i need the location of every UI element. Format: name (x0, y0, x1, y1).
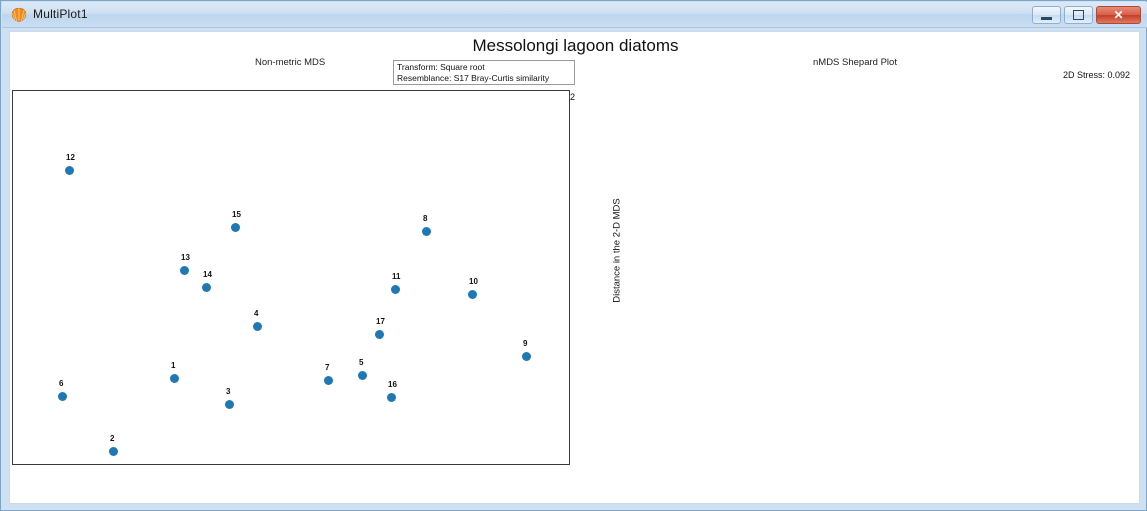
window-title: MultiPlot1 (33, 7, 88, 21)
mds-point (231, 223, 240, 232)
mds-point-label: 3 (226, 387, 230, 396)
y-axis-title: Distance in the 2-D MDS (612, 131, 623, 371)
mds-point (180, 266, 189, 275)
mds-point (375, 330, 384, 339)
minimize-icon (1033, 7, 1060, 23)
mds-point (253, 322, 262, 331)
title-bar: MultiPlot1 ✕ (2, 2, 1147, 28)
close-button[interactable]: ✕ (1096, 6, 1141, 24)
mds-point-label: 10 (469, 277, 478, 286)
mds-point-label: 9 (523, 339, 527, 348)
restore-icon (1065, 7, 1092, 23)
maximize-button[interactable] (1064, 6, 1093, 24)
mds-subtitle: Non-metric MDS (255, 57, 325, 68)
close-icon: ✕ (1097, 7, 1140, 23)
mds-point-label: 11 (392, 272, 400, 281)
application-window: MultiPlot1 ✕ Messolongi lagoon diatoms N… (0, 0, 1147, 511)
mds-point (324, 376, 333, 385)
mds-point-label: 14 (203, 270, 212, 279)
mds-point-label: 2 (110, 434, 114, 443)
mds-point-label: 16 (388, 380, 397, 389)
mds-point-label: 8 (423, 214, 427, 223)
mds-point (522, 352, 531, 361)
mds-point-label: 1 (171, 361, 175, 370)
page-title: Messolongi lagoon diatoms (10, 36, 1140, 56)
mds-point (109, 447, 118, 456)
mds-point-label: 4 (254, 309, 258, 318)
mds-point (225, 400, 234, 409)
mds-point-label: 15 (232, 210, 241, 219)
plot-canvas: Messolongi lagoon diatoms Non-metric MDS… (9, 31, 1140, 504)
mds-point (391, 285, 400, 294)
mds-point (202, 283, 211, 292)
transform-label: Transform: Square root (397, 62, 571, 73)
mds-point-label: 5 (359, 358, 363, 367)
minimize-button[interactable] (1032, 6, 1061, 24)
resemblance-label: Resemblance: S17 Bray-Curtis similarity (397, 73, 571, 84)
shepard-plot-area: Distance in the 2-D MDS Similarity 01234… (593, 67, 1138, 502)
mds-point (58, 392, 67, 401)
mds-point (468, 290, 477, 299)
mds-point-label: 7 (325, 363, 329, 372)
mds-point (358, 371, 367, 380)
mds-point-label: 17 (376, 317, 385, 326)
mds-point (65, 166, 74, 175)
mds-point-label: 12 (66, 153, 75, 162)
mds-info-box: Transform: Square root Resemblance: S17 … (393, 60, 575, 85)
mds-plot-area: 1215131481110417915716632 (12, 90, 570, 465)
mds-point-label: 13 (181, 253, 190, 262)
mds-point (170, 374, 179, 383)
mds-point (422, 227, 431, 236)
shell-icon (11, 7, 27, 23)
mds-point-label: 6 (59, 379, 63, 388)
mds-point (387, 393, 396, 402)
